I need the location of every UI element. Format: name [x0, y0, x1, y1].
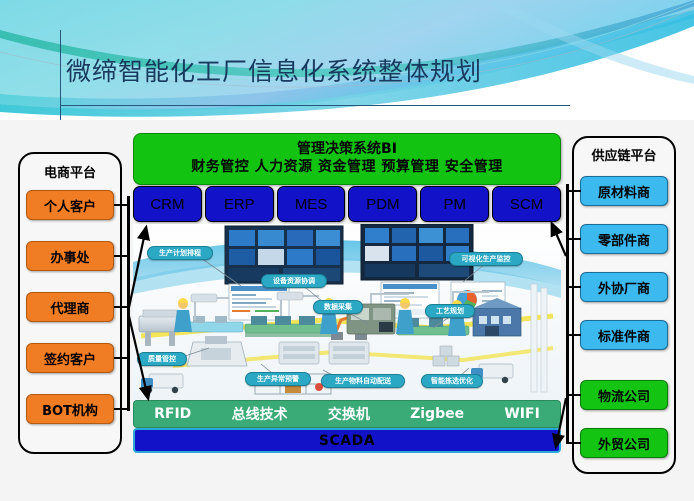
chip-right-4[interactable]: 物流公司	[580, 380, 668, 410]
chip-left-1-label: 办事处	[50, 247, 89, 266]
chip-left-2-label: 代理商	[50, 298, 89, 317]
decision-header-line2: 财务管控 人力资源 资金管理 预算管理 安全管理	[191, 158, 503, 177]
callout-exception-alert: 生产异常预警	[245, 372, 311, 386]
scada-label: SCADA	[319, 433, 375, 449]
left-stub-0	[114, 204, 129, 206]
system-button-row: CRM ERP MES PDM PM SCM	[133, 186, 561, 222]
right-bus-line	[566, 184, 569, 444]
chip-left-0[interactable]: 个人客户	[26, 190, 114, 220]
chip-right-3-label: 标准件商	[598, 326, 650, 345]
chip-right-4-label: 物流公司	[598, 386, 650, 405]
chip-right-0-label: 原材料商	[598, 182, 650, 201]
chip-right-5[interactable]: 外贸公司	[580, 428, 668, 458]
decision-header-line1: 管理决策系统BI	[297, 141, 397, 158]
chip-right-0[interactable]: 原材料商	[580, 176, 668, 206]
system-button-pdm[interactable]: PDM	[348, 186, 417, 222]
callout-quality-control: 质量管控	[137, 352, 187, 366]
right-stub-0	[566, 190, 581, 192]
callout-production-planning-label: 生产计划排程	[159, 250, 201, 257]
callout-exception-alert-label: 生产异常预警	[257, 376, 299, 383]
callout-auto-material-delivery-label: 生产物料自动配送	[335, 378, 391, 385]
left-stub-3	[114, 357, 129, 359]
title-horizontal-rule	[60, 105, 570, 106]
callout-process-planning-label: 工艺规划	[436, 308, 464, 315]
left-platform-title: 电商平台	[20, 162, 120, 181]
smart-factory-illustration: 生产计划排程 设备资源协调 可视化生产监控 数据采集 工艺规划 质量管控 生产异…	[133, 224, 561, 402]
system-button-erp[interactable]: ERP	[205, 186, 274, 222]
right-stub-1	[566, 238, 581, 240]
header-banner: 微缔智能化工厂信息化系统整体规划	[0, 0, 694, 120]
chip-right-1-label: 零部件商	[598, 230, 650, 249]
chip-left-2[interactable]: 代理商	[26, 292, 114, 322]
chip-left-3[interactable]: 签约客户	[26, 343, 114, 373]
callout-quality-control-label: 质量管控	[148, 356, 176, 363]
network-item-fieldbus[interactable]: 总线技术	[232, 404, 288, 424]
network-item-rfid[interactable]: RFID	[154, 406, 191, 422]
title-vertical-rule	[60, 30, 61, 120]
page-title: 微缔智能化工厂信息化系统整体规划	[66, 57, 482, 87]
system-button-crm[interactable]: CRM	[133, 186, 202, 222]
chip-right-3[interactable]: 标准件商	[580, 320, 668, 350]
network-item-switch[interactable]: 交换机	[328, 404, 370, 424]
network-technology-bar: RFID 总线技术 交换机 Zigbee WIFI	[133, 400, 561, 428]
callout-data-collection-label: 数据采集	[324, 304, 352, 311]
callout-equipment-coordination: 设备资源协调	[261, 274, 327, 288]
callout-smart-picking-label: 智能拣选优化	[431, 378, 473, 385]
chip-left-3-label: 签约客户	[44, 349, 96, 368]
callout-visual-monitoring: 可视化生产监控	[449, 252, 523, 266]
chip-right-5-label: 外贸公司	[598, 434, 650, 453]
left-stub-1	[114, 255, 129, 257]
chip-right-2-label: 外协厂商	[598, 278, 650, 297]
chip-left-4-label: BOT机构	[42, 400, 98, 419]
callout-smart-picking: 智能拣选优化	[421, 374, 483, 388]
right-stub-2	[566, 286, 581, 288]
system-button-mes[interactable]: MES	[277, 186, 346, 222]
right-platform-title: 供应链平台	[574, 145, 674, 164]
slide-canvas: 微缔智能化工厂信息化系统整体规划 电商平台 个人客户 办事处 代理商 签约客户 …	[0, 0, 694, 501]
right-stub-3	[566, 334, 581, 336]
chip-left-4[interactable]: BOT机构	[26, 394, 114, 424]
left-stub-2	[114, 306, 129, 308]
decision-system-header: 管理决策系统BI 财务管控 人力资源 资金管理 预算管理 安全管理	[133, 133, 561, 185]
callout-process-planning: 工艺规划	[425, 304, 475, 318]
callout-data-collection: 数据采集	[313, 300, 363, 314]
system-button-scm[interactable]: SCM	[492, 186, 561, 222]
scada-bar[interactable]: SCADA	[133, 428, 561, 453]
chip-right-1[interactable]: 零部件商	[580, 224, 668, 254]
callout-visual-monitoring-label: 可视化生产监控	[462, 256, 511, 263]
chip-right-2[interactable]: 外协厂商	[580, 272, 668, 302]
left-bus-line	[127, 196, 130, 411]
chip-left-0-label: 个人客户	[44, 196, 96, 215]
system-button-pm[interactable]: PM	[420, 186, 489, 222]
callout-auto-material-delivery: 生产物料自动配送	[321, 374, 405, 388]
right-stub-4	[566, 394, 581, 396]
callout-equipment-coordination-label: 设备资源协调	[273, 278, 315, 285]
network-item-zigbee[interactable]: Zigbee	[410, 406, 464, 422]
callout-production-planning: 生产计划排程	[147, 246, 213, 260]
right-stub-5	[566, 442, 581, 444]
left-stub-4	[114, 408, 129, 410]
network-item-wifi[interactable]: WIFI	[504, 406, 539, 422]
chip-left-1[interactable]: 办事处	[26, 241, 114, 271]
